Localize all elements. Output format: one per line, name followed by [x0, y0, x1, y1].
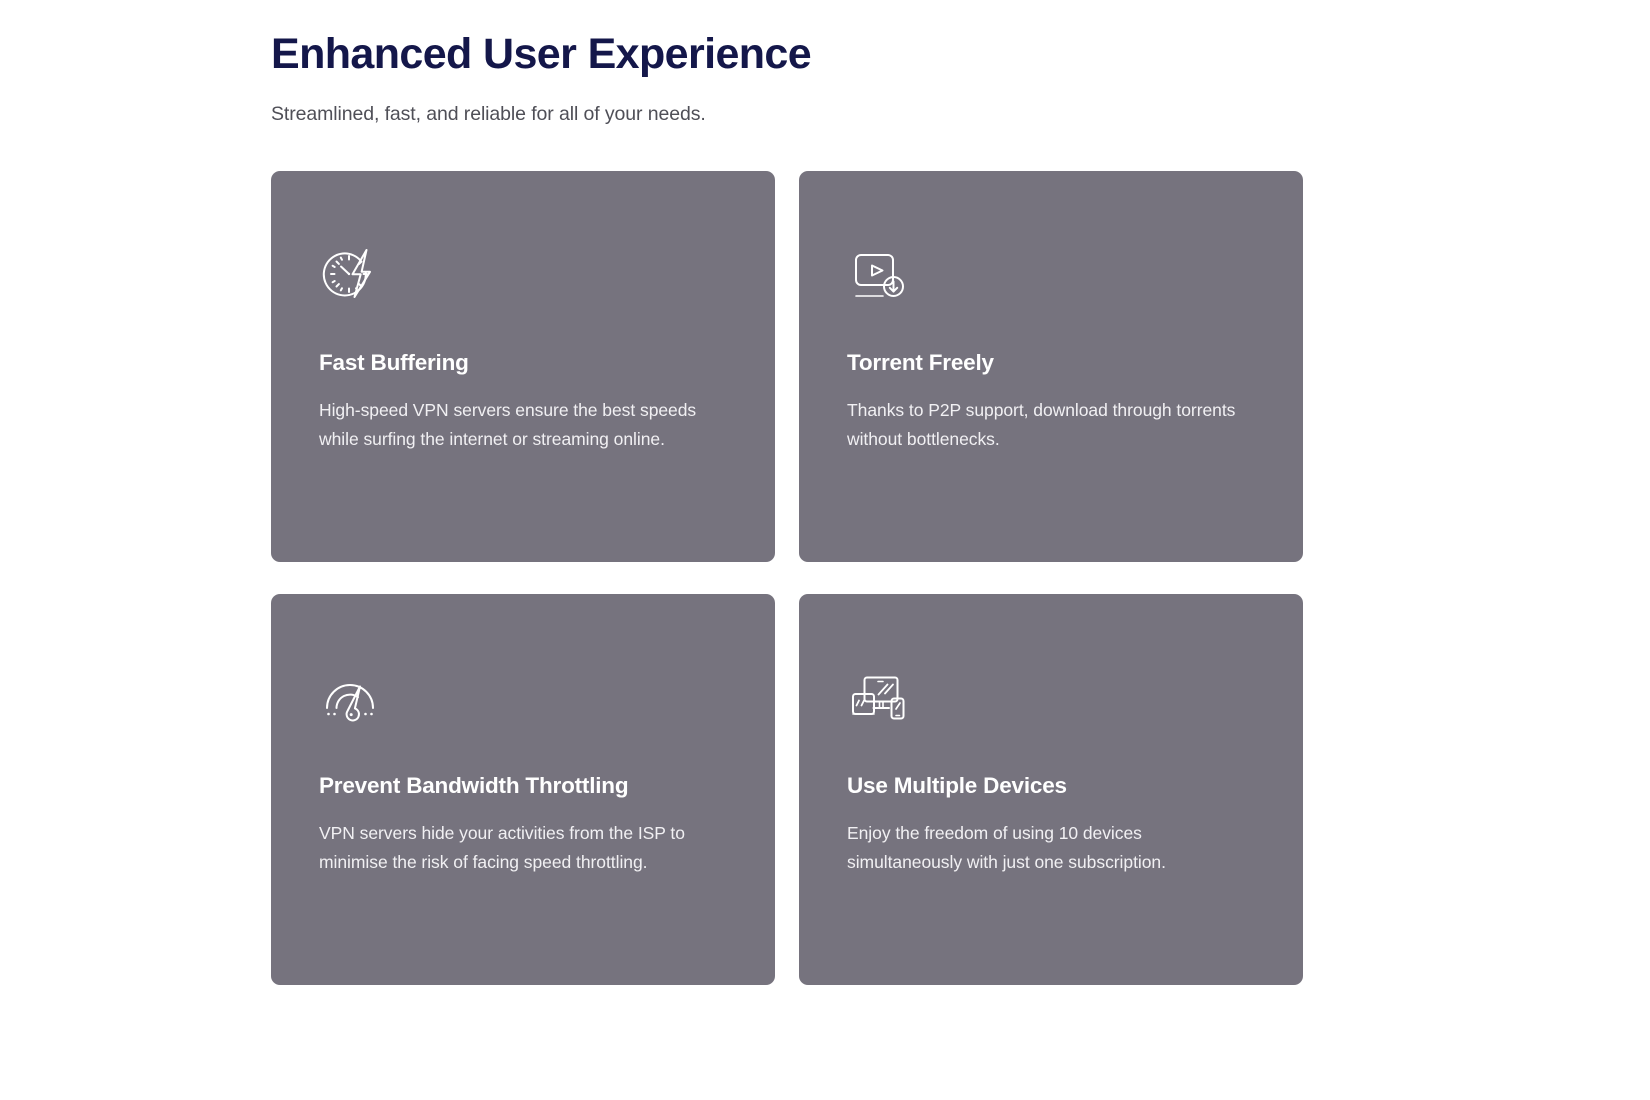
section-header: Enhanced User Experience Streamlined, fa… — [271, 30, 1311, 129]
feature-card-description: High-speed VPN servers ensure the best s… — [319, 396, 699, 455]
feature-card-title: Prevent Bandwidth Throttling — [319, 772, 727, 799]
feature-card-fast-buffering[interactable]: Fast Buffering High-speed VPN servers en… — [271, 171, 775, 562]
page-title: Enhanced User Experience — [271, 30, 1311, 79]
page-subtitle: Streamlined, fast, and reliable for all … — [271, 101, 1311, 128]
feature-card-torrent-freely[interactable]: Torrent Freely Thanks to P2P support, do… — [799, 171, 1303, 562]
feature-section-page: Enhanced User Experience Streamlined, fa… — [0, 0, 1650, 1100]
feature-card-description: Enjoy the freedom of using 10 devices si… — [847, 819, 1239, 878]
speed-lightning-icon — [319, 244, 381, 306]
feature-card-prevent-bandwidth-throttling[interactable]: Prevent Bandwidth Throttling VPN servers… — [271, 594, 775, 985]
video-download-icon — [847, 244, 909, 306]
feature-card-description: VPN servers hide your activities from th… — [319, 819, 711, 878]
feature-card-title: Use Multiple Devices — [847, 772, 1255, 799]
multiple-devices-icon — [847, 667, 909, 729]
feature-card-title: Torrent Freely — [847, 349, 1255, 376]
feature-card-use-multiple-devices[interactable]: Use Multiple Devices Enjoy the freedom o… — [799, 594, 1303, 985]
feature-card-grid: Fast Buffering High-speed VPN servers en… — [271, 171, 1303, 985]
gauge-needle-icon — [319, 667, 381, 729]
feature-card-description: Thanks to P2P support, download through … — [847, 396, 1239, 455]
feature-card-title: Fast Buffering — [319, 349, 727, 376]
